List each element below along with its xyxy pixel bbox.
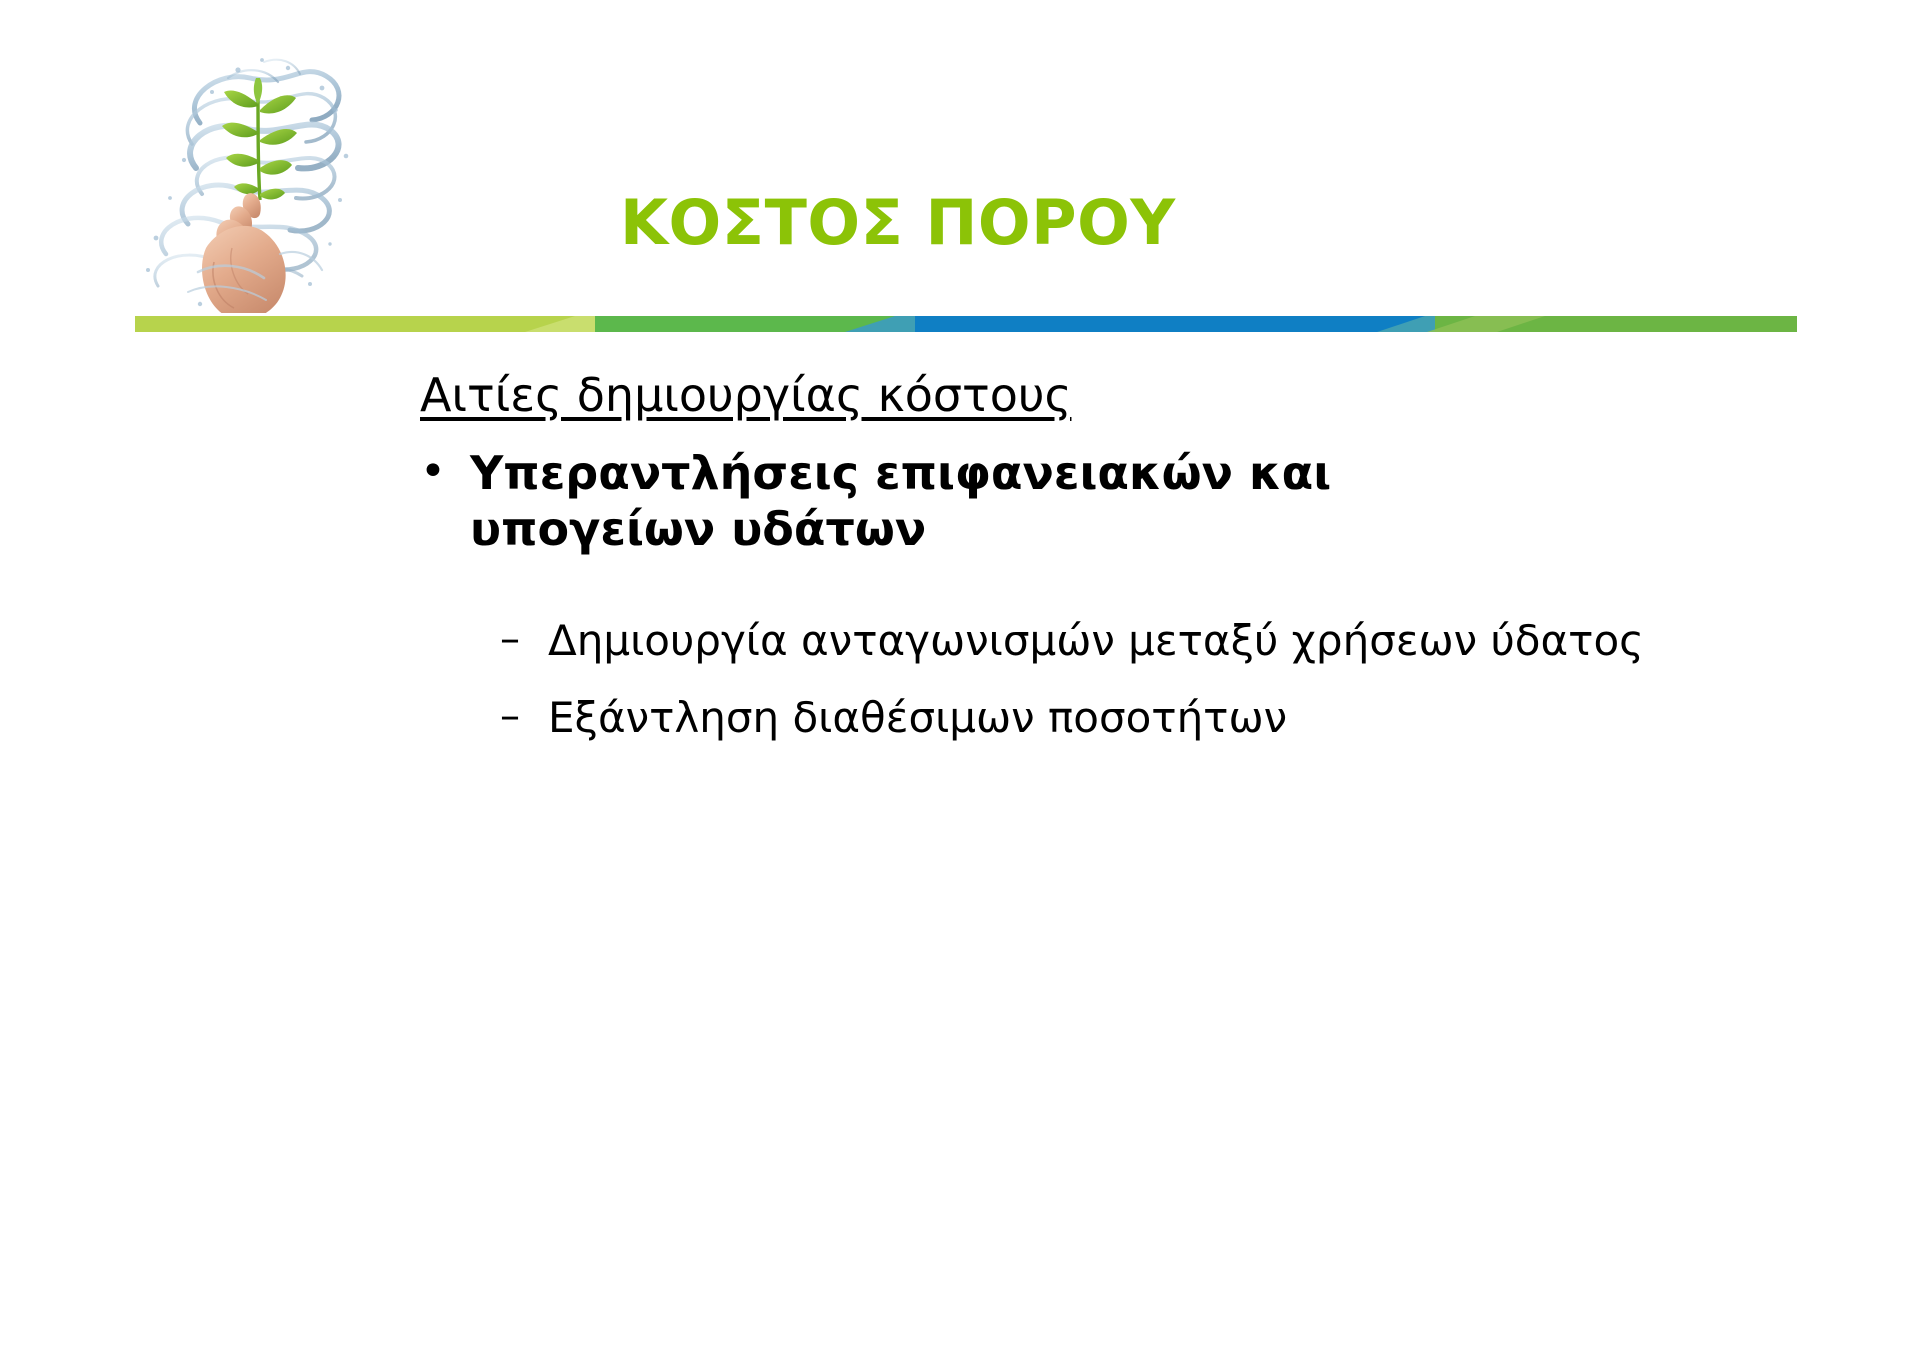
lead-heading: Αιτίες δημιουργίας κόστους (420, 368, 1071, 422)
bullet-text-primary: Υπεραντλήσεις επιφανειακών και υπογείων … (470, 445, 1540, 557)
slide-footer: Ειδική Γραμματεία Υδάτων (0, 1157, 1920, 1357)
slide-header: ΚΟΣΤΟΣ ΠΟΡΟΥ (0, 0, 1920, 340)
list-item: – Δημιουργία ανταγωνισμών μεταξύ χρήσεων… (500, 615, 1680, 666)
bullet-item-primary: • Υπεραντλήσεις επιφανειακών και υπογείω… (420, 445, 1540, 557)
sub-bullet-text: Δημιουργία ανταγωνισμών μεταξύ χρήσεων ύ… (548, 615, 1644, 666)
sub-bullet-text: Εξάντληση διαθέσιμων ποσοτήτων (548, 692, 1287, 743)
bullet-marker-dash: – (500, 692, 526, 741)
slide-body: Αιτίες δημιουργίας κόστους • Υπεραντλήσε… (0, 350, 1920, 1130)
header-divider-ribbon (135, 316, 1797, 332)
bullet-marker-dash: – (500, 615, 526, 664)
sub-bullet-list: – Δημιουργία ανταγωνισμών μεταξύ χρήσεων… (500, 615, 1680, 769)
presentation-slide: ΚΟΣΤΟΣ ΠΟΡΟΥ Αιτίες δημιουργίας κόστους … (0, 0, 1920, 1357)
page-title: ΚΟΣΤΟΣ ΠΟΡΟΥ (620, 190, 1720, 255)
bullet-marker-dot: • (420, 445, 444, 499)
list-item: – Εξάντληση διαθέσιμων ποσοτήτων (500, 692, 1680, 743)
water-splash-plant-image (140, 48, 390, 313)
